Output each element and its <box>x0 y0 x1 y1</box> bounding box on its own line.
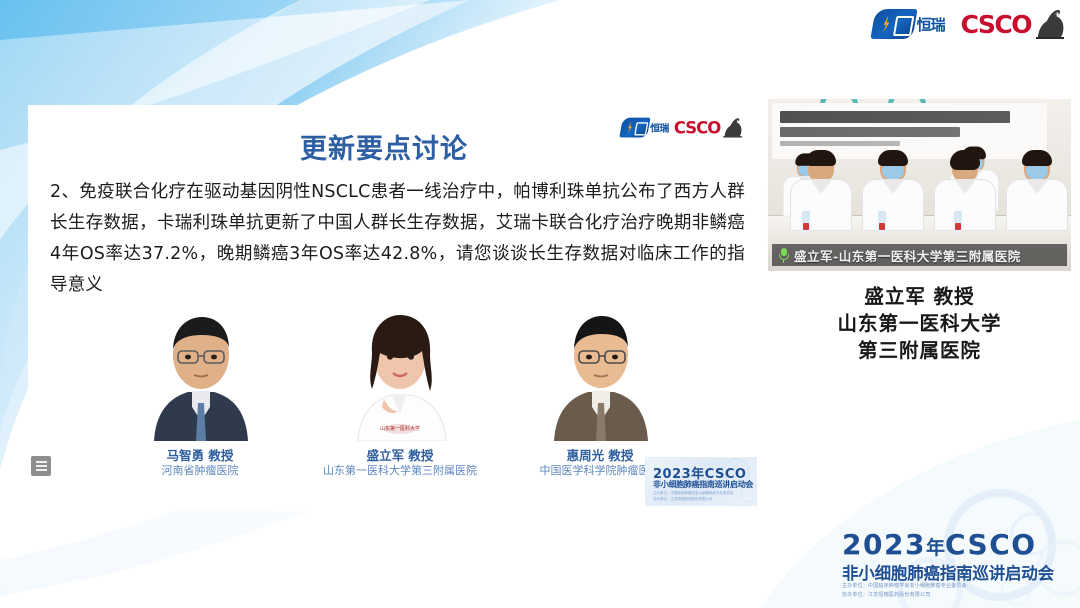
speaker-info-block: 盛立军 教授 山东第一医科大学 第三附属医院 <box>768 283 1071 364</box>
csco-beast-svg <box>1032 8 1066 40</box>
svg-text:山东第一医科大学: 山东第一医科大学 <box>380 425 420 432</box>
water-bottle <box>954 211 962 233</box>
water-bottle <box>878 211 886 233</box>
footer-csco: CSCO <box>945 528 1037 561</box>
doctor-name: 马智勇 教授 <box>120 448 280 463</box>
person-coat <box>790 179 852 231</box>
hengrui-logo: 恒瑞 <box>873 9 945 39</box>
page-title: 更新要点讨论 <box>300 127 468 166</box>
person-hair <box>950 150 980 170</box>
person-head <box>1024 154 1050 182</box>
coat-collar <box>1026 179 1048 194</box>
coat-collar <box>882 179 904 194</box>
avatar: 山东第一医科大学 <box>336 303 464 441</box>
doctor-card-sheng-lijun: 山东第一医科大学 盛立军 教授 山东第一医科大学第三附属医院 <box>320 303 480 478</box>
banner-text-line <box>780 127 960 137</box>
footer-subtitle: 非小细胞肺癌指南巡讲启动会 <box>842 560 1054 584</box>
footer-fine-1: 主办单位：中国临床肿瘤学会非小细胞肺癌专业委员会 <box>842 582 967 589</box>
card-logo-group: 恒瑞 CSCO <box>621 117 743 138</box>
mic-stem <box>783 259 785 263</box>
card-csco-label: CSCO <box>673 118 719 137</box>
event-footer-watermark: 2023年CSCO 非小细胞肺癌指南巡讲启动会 主办单位：中国临床肿瘤学会非小细… <box>820 512 1080 608</box>
csco-beast-icon <box>721 117 743 138</box>
portrait-ma-zhiyong <box>136 303 264 441</box>
person-head <box>808 154 834 182</box>
person-coat <box>934 179 996 231</box>
video-caption-text: 盛立军-山东第一医科大学第三附属医院 <box>794 246 1021 265</box>
banner-text-line <box>780 111 1010 123</box>
hengrui-mark-icon <box>870 9 917 39</box>
doctor-org: 河南省肿瘤医院 <box>120 463 280 478</box>
water-bottle <box>802 211 810 233</box>
video-caption-bar: 盛立军-山东第一医科大学第三附属医院 <box>772 244 1067 266</box>
attendee-person <box>790 154 852 231</box>
coat-collar <box>810 179 832 194</box>
face-mask <box>882 166 904 179</box>
portrait-hui-zhouguang <box>536 303 664 441</box>
person-coat <box>1006 179 1068 231</box>
card-header: 更新要点讨论 恒瑞 CSCO <box>28 105 761 167</box>
speaker-affiliation-line2: 第三附属医院 <box>768 337 1071 364</box>
doctor-panel-list: 马智勇 教授 河南省肿瘤医院 <box>120 303 680 478</box>
slide-canvas: 恒瑞 CSCO 更新要点讨论 恒瑞 <box>0 0 1080 608</box>
person-hair <box>806 150 836 166</box>
avatar <box>536 303 664 441</box>
event-badge-fine-2: 协办单位：江苏恒瑞医药股份有限公司 <box>653 497 713 502</box>
csco-logo-label: CSCO <box>961 10 1031 39</box>
hengrui-logo-label: 恒瑞 <box>917 14 945 35</box>
avatar <box>136 303 264 441</box>
card-hengrui-logo: 恒瑞 <box>621 118 669 138</box>
csco-beast-svg <box>721 117 743 138</box>
speaker-video-panel[interactable]: 盛立军-山东第一医科大学第三附属医院 <box>768 99 1071 271</box>
hengrui-mark-icon <box>619 118 650 138</box>
csco-logo: CSCO <box>961 8 1066 40</box>
menu-line <box>36 461 47 463</box>
event-badge: 2023年CSCO 非小细胞肺癌指南巡讲启动会 主办单位：中国临床肿瘤学会小细胞… <box>645 457 757 506</box>
attendee-person <box>1006 154 1068 231</box>
doctor-card-hui-zhouguang: 惠周光 教授 中国医学科学院肿瘤医院 <box>520 303 680 478</box>
footer-year-line: 2023年CSCO <box>842 528 1037 561</box>
portrait-sheng-lijun: 山东第一医科大学 <box>336 303 464 441</box>
footer-year-cn: 年 <box>926 537 945 559</box>
speaker-affiliation-line1: 山东第一医科大学 <box>768 310 1071 337</box>
person-hair <box>1022 150 1052 166</box>
coat-collar <box>954 179 976 194</box>
footer-fine-2: 协办单位：江苏恒瑞医药股份有限公司 <box>842 591 930 598</box>
card-hengrui-label: 恒瑞 <box>650 121 668 135</box>
header-logo-bar: 恒瑞 CSCO <box>873 8 1066 40</box>
person-coat <box>862 179 924 231</box>
event-badge-subtitle: 非小细胞肺癌指南巡讲启动会 <box>653 479 753 490</box>
banner-text-line <box>780 141 900 146</box>
microphone-icon <box>778 248 789 263</box>
speaker-name: 盛立军 教授 <box>768 283 1071 310</box>
attendee-person <box>862 154 924 231</box>
doctor-name: 盛立军 教授 <box>320 448 480 463</box>
speaker-person <box>934 154 996 231</box>
footer-year-number: 2023 <box>842 528 926 561</box>
doctor-org: 山东第一医科大学第三附属医院 <box>320 463 480 478</box>
card-csco-logo: CSCO <box>673 117 743 138</box>
menu-line <box>36 465 47 467</box>
person-head <box>952 154 978 182</box>
person-head <box>880 154 906 182</box>
event-badge-fine-1: 主办单位：中国临床肿瘤学会小细胞肺癌专业委员会 <box>653 491 734 496</box>
csco-beast-icon <box>1032 8 1066 40</box>
discussion-question-text: 2、免疫联合化疗在驱动基因阴性NSCLC患者一线治疗中，帕博利珠单抗公布了西方人… <box>50 177 745 301</box>
face-mask <box>1026 166 1048 179</box>
person-hair <box>878 150 908 166</box>
slide-content-card: 更新要点讨论 恒瑞 CSCO 2 <box>28 105 761 511</box>
list-menu-icon[interactable] <box>31 456 51 476</box>
menu-line <box>36 469 47 471</box>
doctor-card-ma-zhiyong: 马智勇 教授 河南省肿瘤医院 <box>120 303 280 478</box>
